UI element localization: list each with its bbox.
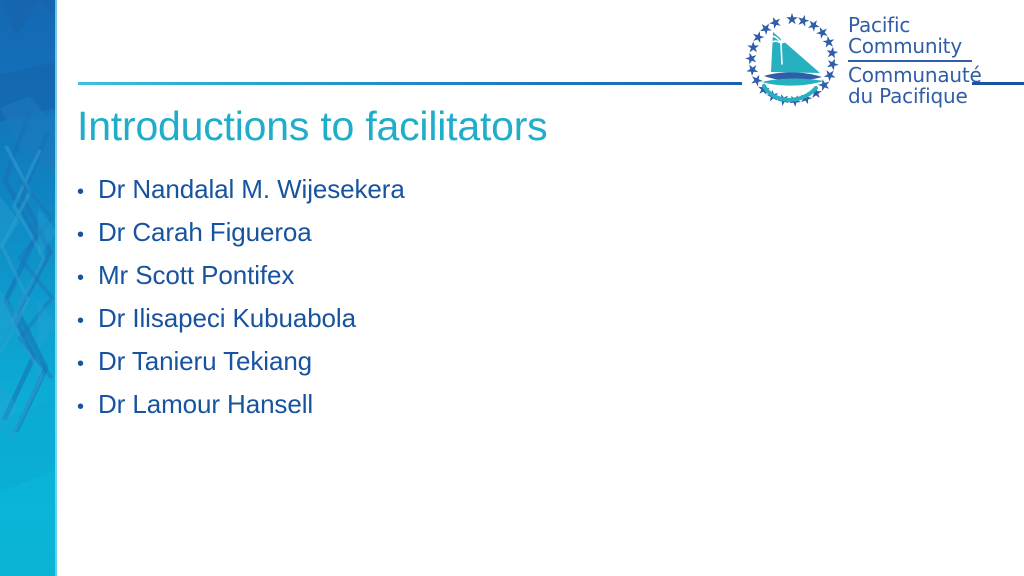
list-item-label: Dr Tanieru Tekiang: [98, 340, 312, 383]
list-item: • Dr Carah Figueroa: [77, 211, 697, 254]
list-item-label: Dr Nandalal M. Wijesekera: [98, 168, 405, 211]
list-item-label: Dr Ilisapeci Kubuabola: [98, 297, 356, 340]
logo-line-communaute: Communauté: [848, 65, 982, 86]
logo-line-community: Community: [848, 36, 982, 57]
list-item: • Dr Nandalal M. Wijesekera: [77, 168, 697, 211]
presentation-slide: Pacific Community Communauté du Pacifiqu…: [0, 0, 1024, 576]
bullet-dot-icon: •: [77, 343, 98, 386]
list-item: • Mr Scott Pontifex: [77, 254, 697, 297]
sailing-canoe-emblem-icon: [742, 10, 842, 110]
bullet-dot-icon: •: [77, 171, 98, 214]
logo-divider: [848, 60, 972, 62]
list-item-label: Dr Carah Figueroa: [98, 211, 312, 254]
tapa-pattern-graphic: [0, 0, 57, 576]
bullet-dot-icon: •: [77, 386, 98, 429]
logo-wordmark: Pacific Community Communauté du Pacifiqu…: [848, 13, 982, 107]
bullet-dot-icon: •: [77, 257, 98, 300]
list-item: • Dr Lamour Hansell: [77, 383, 697, 426]
decorative-sidebar-band: [0, 0, 57, 576]
pacific-community-logo: Pacific Community Communauté du Pacifiqu…: [742, 5, 972, 115]
bullet-dot-icon: •: [77, 300, 98, 343]
sidebar-edge-highlight: [55, 0, 57, 576]
list-item-label: Dr Lamour Hansell: [98, 383, 313, 426]
list-item: • Dr Ilisapeci Kubuabola: [77, 297, 697, 340]
bullet-dot-icon: •: [77, 214, 98, 257]
list-item: • Dr Tanieru Tekiang: [77, 340, 697, 383]
facilitator-list: • Dr Nandalal M. Wijesekera • Dr Carah F…: [77, 168, 697, 426]
slide-title: Introductions to facilitators: [77, 101, 548, 151]
logo-line-du-pacifique: du Pacifique: [848, 86, 982, 107]
logo-line-pacific: Pacific: [848, 15, 982, 36]
list-item-label: Mr Scott Pontifex: [98, 254, 294, 297]
